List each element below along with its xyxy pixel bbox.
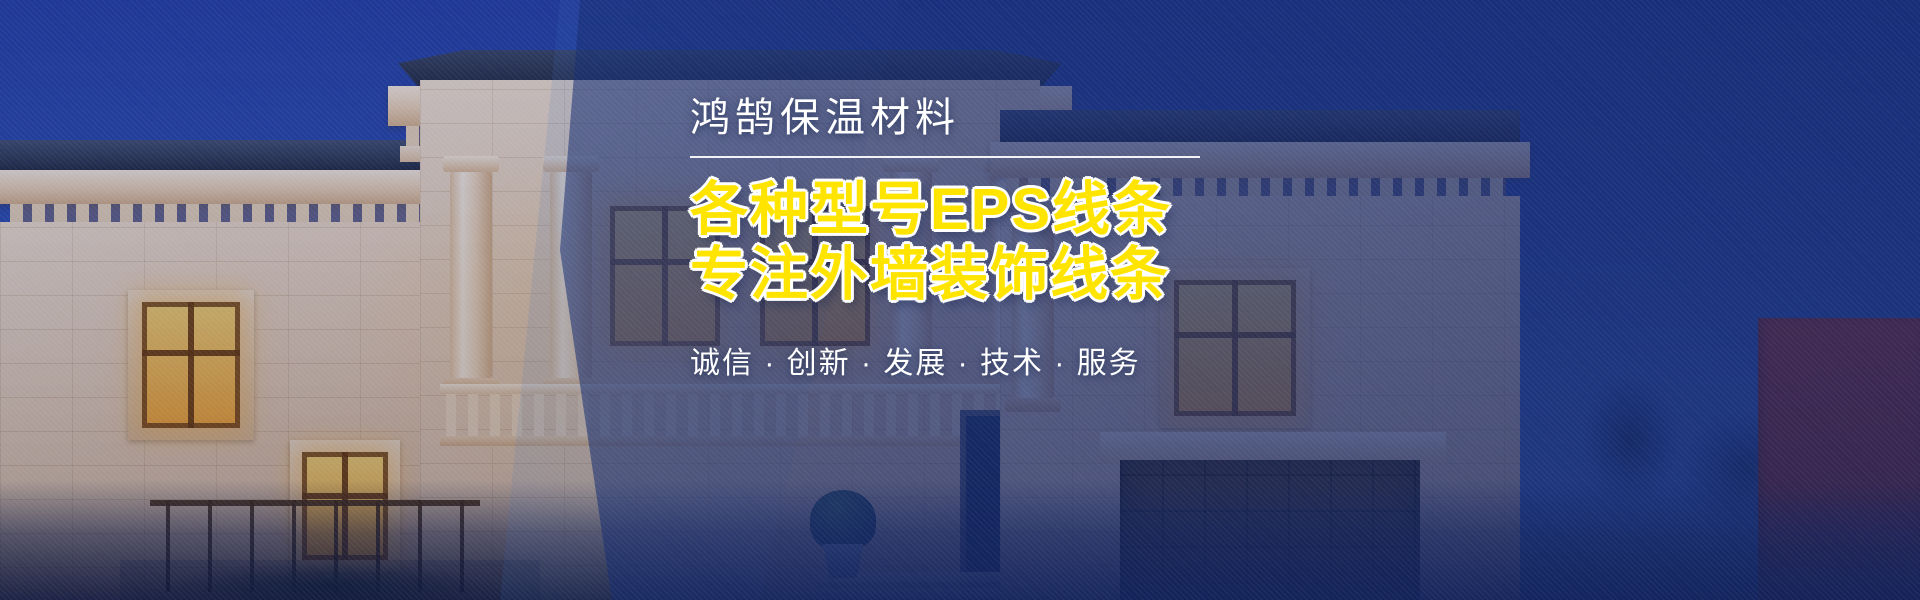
banner-content: 鸿鹄保温材料 各种型号EPS线条 专注外墙装饰线条 诚信 · 创新 · 发展 ·… xyxy=(690,96,1450,382)
column-1 xyxy=(450,170,492,380)
left-wing-cornice xyxy=(0,170,448,204)
headline-block: 各种型号EPS线条 专注外墙装饰线条 xyxy=(690,178,1450,308)
left-window-lit xyxy=(142,302,240,428)
brand-name: 鸿鹄保温材料 xyxy=(690,96,1450,140)
headline-line-1: 各种型号EPS线条 xyxy=(690,178,1450,243)
left-wing-roof xyxy=(0,140,440,174)
hero-banner: 鸿鹄保温材料 各种型号EPS线条 专注外墙装饰线条 诚信 · 创新 · 发展 ·… xyxy=(0,0,1920,600)
divider-rule xyxy=(690,156,1200,158)
tagline: 诚信 · 创新 · 发展 · 技术 · 服务 xyxy=(690,338,1450,382)
headline-line-2: 专注外墙装饰线条 xyxy=(690,243,1450,308)
left-wing-dentils xyxy=(10,204,430,222)
